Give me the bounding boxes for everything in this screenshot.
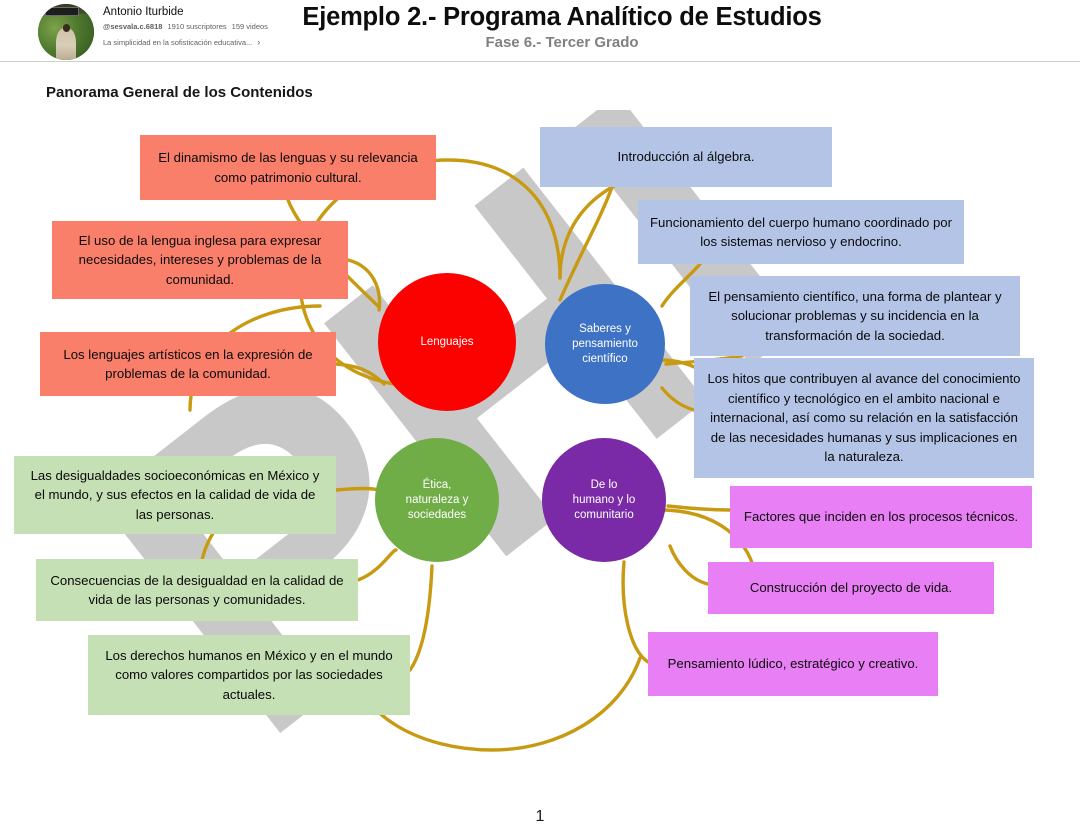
content-box-humano-1[interactable]: Factores que inciden en los procesos téc… [730, 486, 1032, 548]
section-heading: Panorama General de los Contenidos [46, 84, 313, 101]
content-box-etica-2[interactable]: Consecuencias de la desigualdad en la ca… [36, 559, 358, 621]
content-box-etica-3[interactable]: Los derechos humanos en México y en el m… [88, 635, 410, 715]
channel-name[interactable]: Antonio Iturbide [103, 5, 268, 20]
youtube-channel-card[interactable]: Antonio Iturbide @sesvala.c.68181910 sus… [38, 4, 278, 60]
title-block: Ejemplo 2.- Programa Analítico de Estudi… [262, 2, 862, 53]
page-number: 1 [0, 808, 1080, 826]
content-box-saberes-4[interactable]: Los hitos que contribuyen al avance del … [694, 358, 1034, 478]
content-box-saberes-1[interactable]: Introducción al álgebra. [540, 127, 832, 187]
content-box-lenguajes-2[interactable]: El uso de la lengua inglesa para expresa… [52, 221, 348, 299]
content-box-lenguajes-1[interactable]: El dinamismo de las lenguas y su relevan… [140, 135, 436, 200]
mindmap-canvas: PHI El dinamismo de las lenguas y su rel… [0, 110, 1080, 800]
channel-description-row[interactable]: La simplicidad en la sofisticación educa… [103, 36, 268, 49]
header-divider [0, 61, 1080, 62]
circle-node-etica[interactable]: Ética, naturaleza y sociedades [375, 438, 499, 562]
channel-subscribers: 1910 suscriptores [167, 22, 226, 31]
content-box-humano-3[interactable]: Pensamiento lúdico, estratégico y creati… [648, 632, 938, 696]
slide-page: Antonio Iturbide @sesvala.c.68181910 sus… [0, 0, 1080, 834]
page-subtitle: Fase 6.- Tercer Grado [262, 33, 862, 53]
channel-handle: @sesvala.c.6818 [103, 22, 162, 31]
content-box-saberes-2[interactable]: Funcionamiento del cuerpo humano coordin… [638, 200, 964, 264]
page-title: Ejemplo 2.- Programa Analítico de Estudi… [262, 2, 862, 32]
content-box-saberes-3[interactable]: El pensamiento científico, una forma de … [690, 276, 1020, 356]
content-box-lenguajes-3[interactable]: Los lenguajes artísticos en la expresión… [40, 332, 336, 396]
circle-node-lenguajes[interactable]: Lenguajes [378, 273, 516, 411]
content-box-humano-2[interactable]: Construcción del proyecto de vida. [708, 562, 994, 614]
circle-node-saberes[interactable]: Saberes y pensamiento científico [545, 284, 665, 404]
content-box-etica-1[interactable]: Las desigualdades socioeconómicas en Méx… [14, 456, 336, 534]
channel-meta: @sesvala.c.68181910 suscriptores159 vide… [103, 21, 268, 33]
channel-description: La simplicidad en la sofisticación educa… [103, 38, 252, 47]
avatar[interactable] [38, 4, 94, 60]
header: Antonio Iturbide @sesvala.c.68181910 sus… [0, 0, 1080, 62]
circle-node-humano[interactable]: De lo humano y lo comunitario [542, 438, 666, 562]
chevron-right-icon: › [257, 37, 260, 47]
channel-text-block: Antonio Iturbide @sesvala.c.68181910 sus… [103, 4, 268, 49]
